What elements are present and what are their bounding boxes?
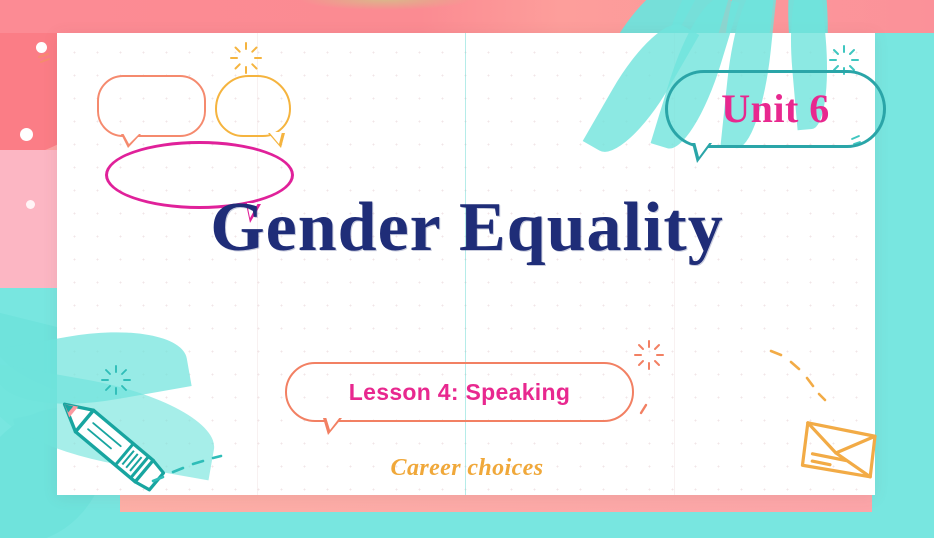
lesson-badge[interactable]: Lesson 4: Speaking xyxy=(285,362,634,422)
slide-title: Gender Equality xyxy=(0,193,934,263)
sparkle-icon-yellow xyxy=(229,41,263,75)
presentation-slide: Unit 6 Gender Equality Lesson 4: Speakin… xyxy=(0,0,934,538)
sparkle-icon-coral xyxy=(634,340,664,370)
background-band-teal-bottom xyxy=(0,512,934,538)
empty-bubble-yellow xyxy=(215,75,291,137)
empty-bubble-coral xyxy=(97,75,206,137)
bubble-tail-inner xyxy=(269,132,282,144)
bubble-tail-inner xyxy=(326,417,340,430)
unit-badge[interactable]: Unit 6 xyxy=(665,70,886,148)
unit-label: Unit 6 xyxy=(721,89,830,129)
bubble-tail-inner xyxy=(123,133,140,144)
lesson-label: Lesson 4: Speaking xyxy=(349,379,570,406)
bubble-tail-inner xyxy=(695,142,710,157)
motion-dash-icon xyxy=(769,345,859,415)
background-accent-gold xyxy=(300,0,470,10)
decor-dot xyxy=(20,128,33,141)
tick-mark-icon xyxy=(637,401,655,419)
tick-mark-icon xyxy=(35,45,61,71)
slide-subtitle: Career choices xyxy=(0,455,934,482)
